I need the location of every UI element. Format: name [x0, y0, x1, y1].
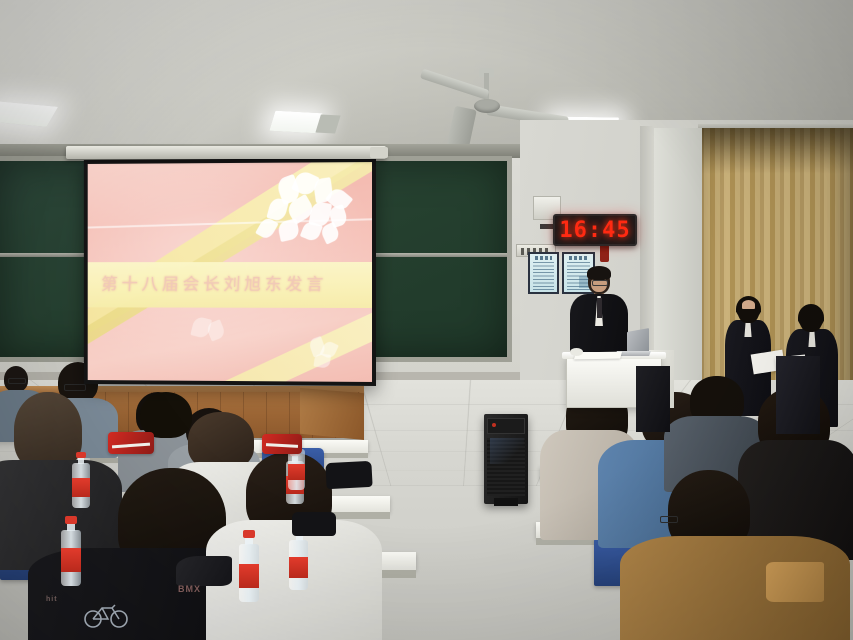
curtain-shadow [700, 128, 853, 174]
power-led-indicator [492, 423, 496, 427]
pa-speaker-base [494, 498, 518, 506]
classroom-presentation-photo: 第十八届会长刘旭东发言 16:45 [0, 0, 853, 640]
bottle-label [288, 464, 305, 480]
speaker-glasses [592, 280, 608, 286]
audience-glasses-2 [64, 384, 86, 391]
wall-notice-left [528, 252, 559, 294]
pa-speaker-highlight [490, 438, 524, 464]
ceiling-light-panel-2 [269, 111, 322, 134]
bottle-cap [65, 516, 77, 524]
slide-title: 第十八届会长刘旭东发言 [101, 270, 367, 295]
khaki-jacket-pocket [766, 562, 824, 602]
clock-time: 16:45 [559, 218, 630, 243]
projection-screen: 第十八届会长刘旭东发言 [84, 158, 376, 386]
standing-person-legs-2 [776, 356, 820, 434]
control-switch[interactable] [521, 248, 524, 255]
water-bottle-3 [72, 452, 90, 508]
water-bottle-2 [238, 530, 260, 602]
bicycle-icon [82, 600, 130, 628]
jacket-hood [176, 556, 232, 586]
microphone-base [570, 348, 583, 356]
assistant-2-hair [798, 304, 824, 331]
jacket-logo-bmx: BMX [178, 584, 201, 594]
bottle-label [61, 548, 81, 572]
bottle-label [239, 564, 259, 588]
jacket-logo-small: hit [46, 596, 58, 603]
ceiling-fan-hub [474, 99, 500, 113]
presentation-slide: 第十八届会长刘旭东发言 [88, 162, 372, 382]
assistant-1-forehead [742, 300, 755, 309]
audience-glasses-khaki [660, 516, 678, 523]
fire-alarm-box [600, 244, 609, 262]
bottle-cap [243, 530, 255, 538]
stage-platform-end [300, 388, 364, 440]
audience-glasses-1 [8, 378, 26, 384]
projector-screen-roller[interactable] [66, 146, 386, 159]
notice-heading [535, 256, 552, 260]
black-bag-1 [325, 461, 372, 489]
speaker-tie [597, 298, 602, 318]
projector-screen-roller-end [370, 147, 388, 158]
bottle-label [289, 557, 308, 578]
digital-wall-clock: 16:45 [553, 214, 637, 246]
bottle-label [72, 478, 90, 497]
speaker-hair [587, 266, 611, 280]
notice-text-lines [533, 262, 554, 292]
standing-person-legs-1 [636, 366, 670, 432]
water-bottle-5 [289, 528, 309, 590]
notice-heading [569, 256, 588, 260]
water-bottle-1 [60, 516, 82, 586]
black-bag-2 [292, 512, 336, 536]
